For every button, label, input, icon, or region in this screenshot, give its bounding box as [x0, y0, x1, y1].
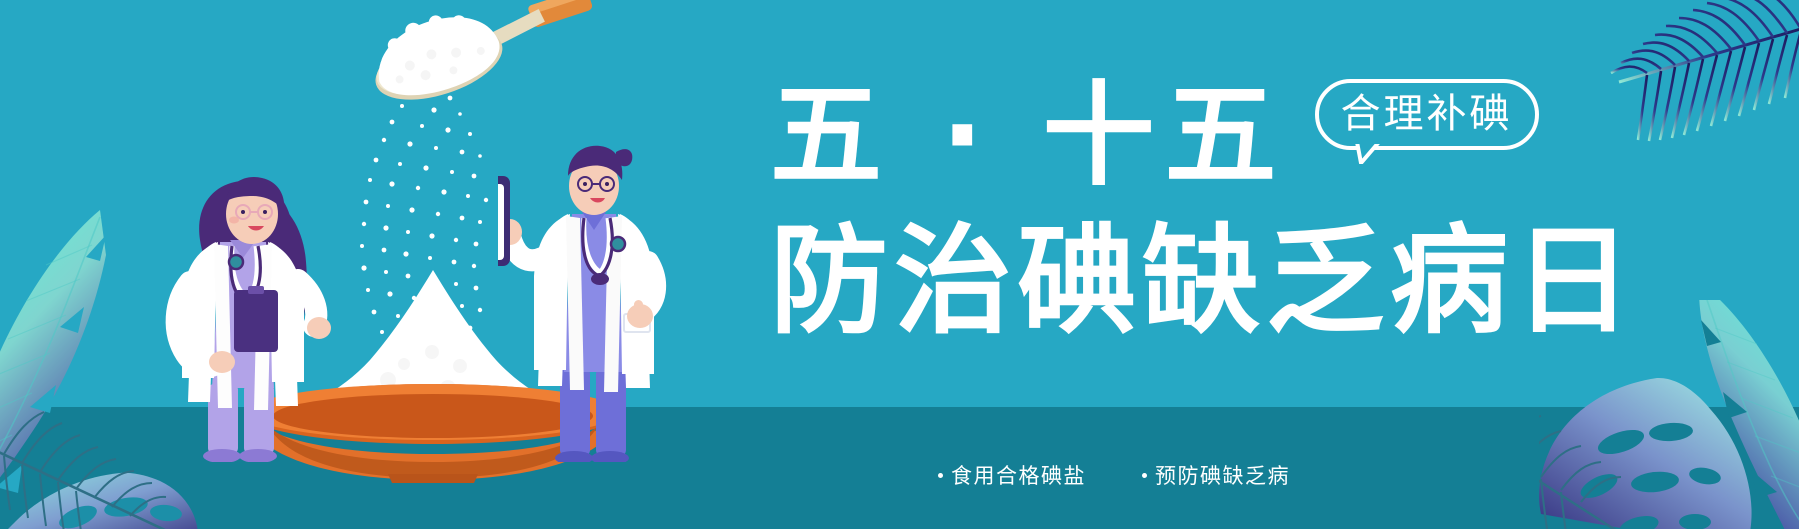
- badge-label: 合理补碘: [1341, 91, 1513, 137]
- headline-line-one: 五 · 十五 合理补碘: [770, 80, 1539, 192]
- headline-block: 五 · 十五 合理补碘 防治碘缺乏病日: [770, 60, 1770, 460]
- badge-tail-icon: [1355, 142, 1381, 164]
- tagline-item-2: 预防碘缺乏病: [1142, 460, 1290, 490]
- title-text: 防治碘缺乏病日: [770, 212, 1638, 350]
- tagline-label-1: 食用合格碘盐: [951, 460, 1086, 490]
- tagline-item-1: 食用合格碘盐: [938, 460, 1086, 490]
- illustration-stage: [0, 0, 760, 529]
- tagline-label-2: 预防碘缺乏病: [1155, 460, 1290, 490]
- tagline-row: 食用合格碘盐 预防碘缺乏病: [938, 460, 1290, 490]
- iodine-deficiency-day-banner: 五 · 十五 合理补碘 防治碘缺乏病日 食用合格碘盐 预防碘缺乏病: [0, 0, 1799, 529]
- bullet-dot-icon: [1142, 473, 1147, 478]
- badge-speech-bubble: 合理补碘: [1315, 79, 1539, 150]
- male-doctor-holding-medical-chart-icon: [498, 132, 683, 462]
- headline-line-two: 防治碘缺乏病日: [770, 222, 1638, 340]
- wooden-spoon-with-salt-icon: [352, 0, 602, 104]
- bullet-dot-icon: [938, 473, 943, 478]
- date-text: 五 · 十五: [770, 80, 1287, 192]
- female-doctor-with-clipboard-icon: [148, 162, 338, 462]
